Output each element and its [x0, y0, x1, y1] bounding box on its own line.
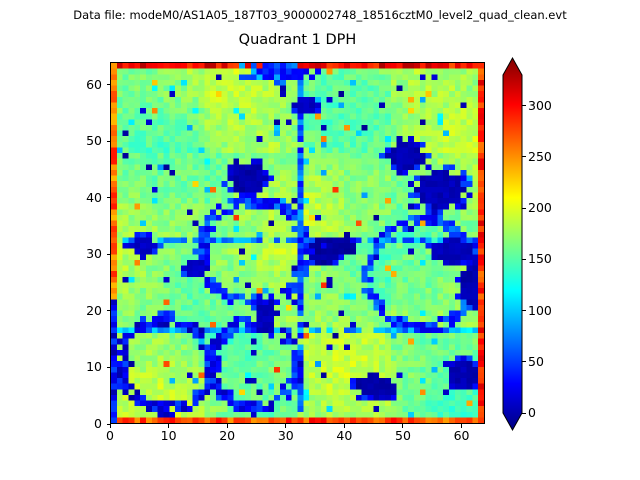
y-tick-label: 50	[62, 134, 102, 147]
figure-suptitle: Data file: modeM0/AS1A05_187T03_90000027…	[0, 8, 640, 22]
colorbar-tick-label: 150	[528, 252, 588, 265]
y-tick-label: 40	[62, 191, 102, 204]
figure-canvas: Data file: modeM0/AS1A05_187T03_90000027…	[0, 0, 640, 480]
x-tick-label: 20	[197, 429, 257, 442]
colorbar-tick-label: 100	[528, 304, 588, 317]
colorbar-tick-label: 0	[528, 406, 588, 419]
x-tick-label: 50	[373, 429, 433, 442]
y-tick-mark	[107, 254, 111, 255]
x-tick-mark	[285, 424, 286, 428]
colorbar-tick-mark	[522, 413, 526, 414]
colorbar-tick-mark	[522, 156, 526, 157]
colorbar-tick-label: 50	[528, 355, 588, 368]
x-tick-mark	[227, 424, 228, 428]
y-tick-mark	[107, 84, 111, 85]
colorbar-gradient	[503, 58, 522, 430]
x-tick-mark	[402, 424, 403, 428]
y-tick-mark	[107, 197, 111, 198]
y-tick-label: 10	[62, 360, 102, 373]
x-tick-mark	[110, 424, 111, 428]
x-tick-label: 0	[80, 429, 140, 442]
colorbar-tick-label: 300	[528, 99, 588, 112]
dph-heatmap-image[interactable]	[111, 63, 484, 423]
x-tick-mark	[168, 424, 169, 428]
y-tick-label: 60	[62, 78, 102, 91]
y-tick-label: 30	[62, 247, 102, 260]
x-tick-mark	[344, 424, 345, 428]
x-tick-label: 60	[432, 429, 492, 442]
x-tick-label: 30	[256, 429, 316, 442]
colorbar-tick-label: 250	[528, 150, 588, 163]
colorbar[interactable]	[503, 58, 522, 430]
colorbar-tick-mark	[522, 208, 526, 209]
y-tick-mark	[107, 141, 111, 142]
heatmap-axes[interactable]	[110, 62, 485, 424]
colorbar-tick-mark	[522, 310, 526, 311]
x-tick-label: 10	[139, 429, 199, 442]
colorbar-tick-mark	[522, 105, 526, 106]
colorbar-tick-label: 200	[528, 201, 588, 214]
y-tick-mark	[107, 310, 111, 311]
x-tick-label: 40	[314, 429, 374, 442]
x-tick-mark	[461, 424, 462, 428]
y-tick-mark	[107, 367, 111, 368]
colorbar-tick-mark	[522, 259, 526, 260]
colorbar-tick-mark	[522, 361, 526, 362]
y-tick-label: 20	[62, 304, 102, 317]
page-title: Quadrant 1 DPH	[110, 31, 485, 49]
